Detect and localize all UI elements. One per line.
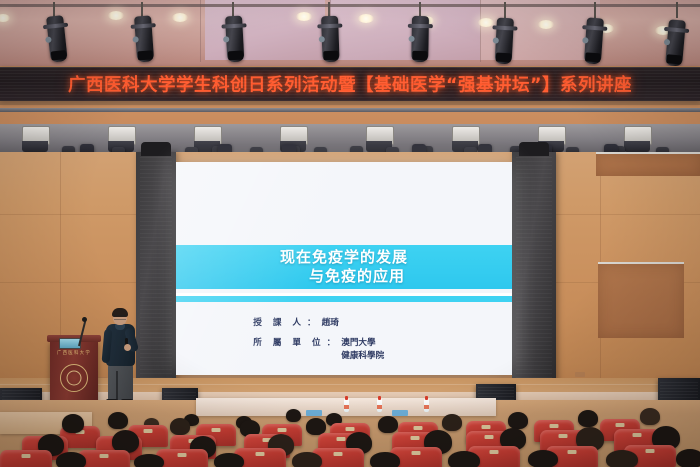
wall-seam [556, 214, 700, 215]
led-banner: 广西医科大学学生科创日系列活动暨【基础医学“强基讲坛”】系列讲座 [0, 67, 700, 101]
audience-head [676, 449, 700, 467]
ceiling-downlight [478, 18, 494, 27]
fresnel-light [194, 126, 222, 145]
wall-vent [575, 372, 585, 377]
slide-meta-key: 所 屬 單 位 [253, 337, 324, 350]
slide-title-line1: 现在免疫学的发展 [280, 248, 408, 266]
water-bottle [344, 399, 349, 412]
auditorium-photo: 广西医科大学学生科创日系列活动暨【基础医学“强基讲坛”】系列讲座 [0, 0, 700, 467]
slide-title: 现在免疫学的发展 与免疫的应用 [176, 248, 512, 285]
light-hanger [676, 2, 678, 18]
line-array-speaker-left [136, 152, 176, 390]
audience-head [442, 414, 462, 431]
university-crest [60, 364, 88, 392]
slide-meta-colon: ： [325, 337, 342, 350]
ceiling-panel [205, 0, 325, 60]
audience-head [508, 412, 528, 429]
acoustic-panel [598, 262, 684, 338]
projection-screen: 现在免疫学的发展 与免疫的应用 授 課 人 ： 趙琦 所 屬 單 位 ： 澳門大… [176, 162, 512, 375]
stage-light-fixture [225, 16, 244, 63]
ceiling-panel [330, 0, 480, 60]
audience-head [378, 416, 398, 433]
audience-head [134, 454, 164, 467]
name-placard [306, 410, 322, 416]
fresnel-light [624, 126, 652, 145]
fresnel-light [22, 126, 50, 145]
ceiling-seam [480, 0, 481, 62]
audience-head [62, 414, 84, 433]
light-hanger [504, 2, 506, 18]
ceiling-downlight [358, 14, 374, 23]
name-placard [392, 410, 408, 416]
stage-light-fixture [411, 16, 429, 62]
slide-meta-row: 所 屬 單 位 ： 澳門大學 健康科學院 [253, 337, 384, 363]
audience-head [448, 451, 480, 467]
glasses-icon [114, 315, 126, 320]
audience-head [606, 450, 638, 467]
slide-meta-value: 趙琦 [322, 317, 339, 330]
water-bottle [377, 399, 382, 412]
auditorium-seat [0, 450, 52, 467]
wall-seam [0, 282, 136, 283]
lighting-truss [0, 108, 700, 112]
slide-metadata: 授 課 人 ： 趙琦 所 屬 單 位 ： 澳門大學 健康科學院 [253, 317, 384, 370]
ceiling-downlight [108, 11, 124, 20]
water-bottle [424, 399, 429, 412]
audience-head [286, 409, 301, 422]
slide-rule-cyan [176, 296, 512, 302]
audience-head [108, 412, 128, 429]
audience-head [56, 452, 86, 467]
auditorium-seat [78, 450, 130, 467]
slide-meta-colon: ： [305, 317, 322, 330]
stage-light-fixture [321, 16, 340, 63]
fresnel-light [280, 126, 308, 145]
fresnel-light [108, 126, 136, 145]
stage-light-fixture [584, 17, 604, 64]
fresnel-light [366, 126, 394, 145]
ceiling-downlight [538, 20, 554, 29]
ceiling-downlight [172, 13, 188, 22]
slide-title-line2: 与免疫的应用 [176, 267, 512, 285]
audience-head [528, 450, 558, 467]
light-hanger [594, 2, 596, 18]
acoustic-panel [596, 152, 700, 176]
led-banner-frame [0, 101, 700, 105]
presenter [104, 309, 138, 401]
audience-head [370, 452, 400, 467]
ceiling-seam [200, 0, 201, 62]
stage-light-fixture [495, 18, 514, 65]
wall-seam [0, 214, 136, 215]
line-array-speaker-right [512, 152, 556, 390]
stage-light-fixture [134, 15, 154, 62]
lectern: 广西医科大学 [50, 340, 98, 402]
audience-head [170, 418, 190, 435]
audience-head [292, 452, 322, 467]
led-banner-text: 广西医科大学学生科创日系列活动暨【基础医学“强基讲坛”】系列讲座 [0, 72, 700, 97]
ceiling-downlight [296, 12, 312, 21]
slide-meta-key: 授 課 人 [253, 317, 305, 330]
slide-meta-value: 澳門大學 健康科學院 [341, 337, 384, 363]
fresnel-light [452, 126, 480, 145]
audience-head [214, 453, 244, 467]
microphone-icon [82, 317, 87, 322]
audience-head [578, 410, 598, 427]
stage-light-fixture [46, 15, 68, 63]
audience-head [640, 408, 660, 425]
lectern-label: 广西医科大学 [50, 350, 98, 356]
slide-meta-row: 授 課 人 ： 趙琦 [253, 317, 384, 330]
presentation-slide: 现在免疫学的发展 与免疫的应用 授 課 人 ： 趙琦 所 屬 單 位 ： 澳門大… [176, 162, 512, 375]
